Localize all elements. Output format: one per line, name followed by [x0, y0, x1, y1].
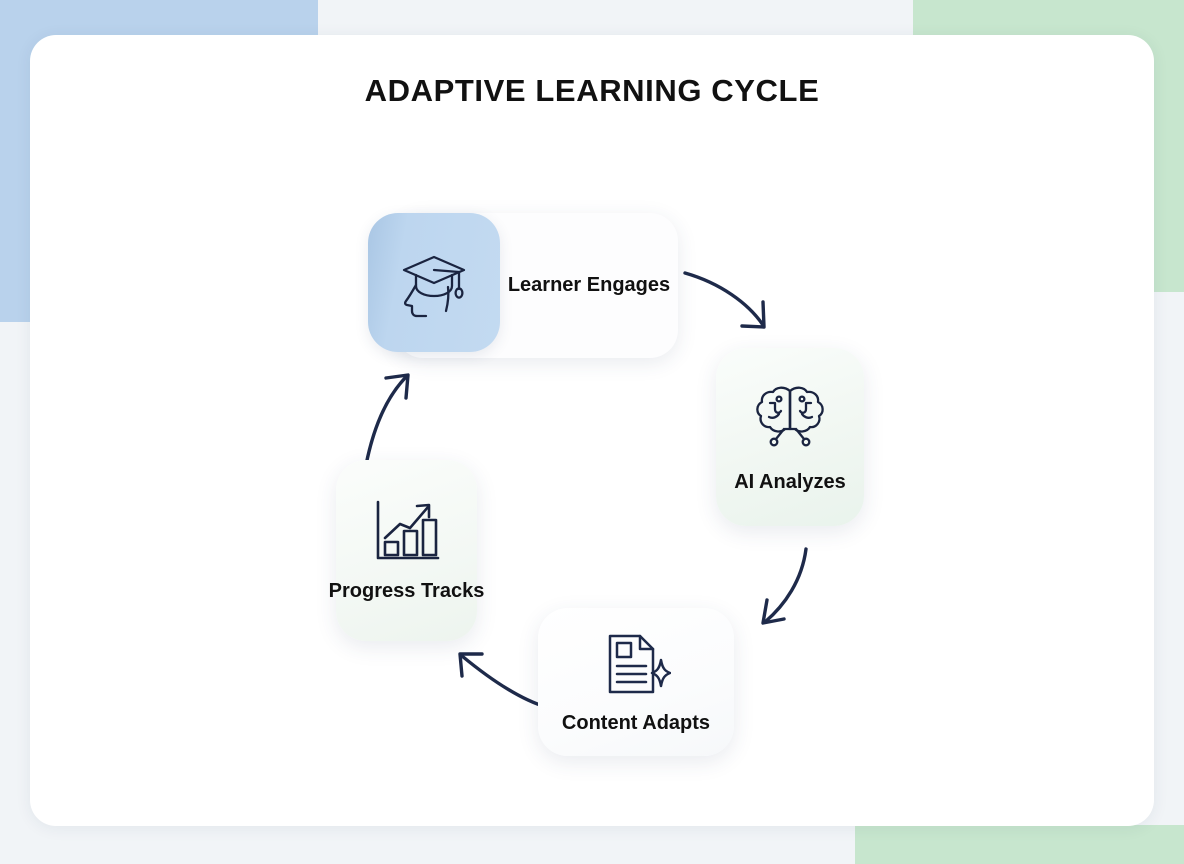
decorative-block-bottom-right — [855, 825, 1184, 864]
node-ai-analyzes[interactable]: AI Analyzes — [716, 348, 864, 526]
connector-learner-to-ai — [685, 273, 764, 327]
node-progress-tracks[interactable]: Progress Tracks — [336, 460, 477, 641]
node-label-content-adapts: Content Adapts — [562, 712, 710, 735]
node-label-ai-analyzes: AI Analyzes — [734, 471, 846, 494]
node-label-learner-engages: Learner Engages — [500, 213, 678, 358]
node-label-progress-tracks: Progress Tracks — [329, 580, 485, 603]
connector-ai-to-content — [763, 549, 806, 623]
bar-chart-growth-icon — [370, 498, 444, 566]
learner-engages-icon-tile — [368, 213, 500, 352]
connector-progress-to-learner — [366, 375, 408, 465]
connector-content-to-progress — [460, 654, 546, 707]
graduation-cap-head-icon — [396, 245, 472, 321]
node-content-adapts[interactable]: Content Adapts — [538, 608, 734, 756]
page-title: ADAPTIVE LEARNING CYCLE — [30, 73, 1154, 109]
node-learner-engages[interactable]: Learner Engages — [368, 213, 678, 358]
document-sparkle-icon — [601, 630, 671, 698]
diagram-canvas: ADAPTIVE LEARNING CYCLE .arw { fill:none… — [30, 35, 1154, 826]
brain-circuit-icon — [751, 381, 829, 453]
